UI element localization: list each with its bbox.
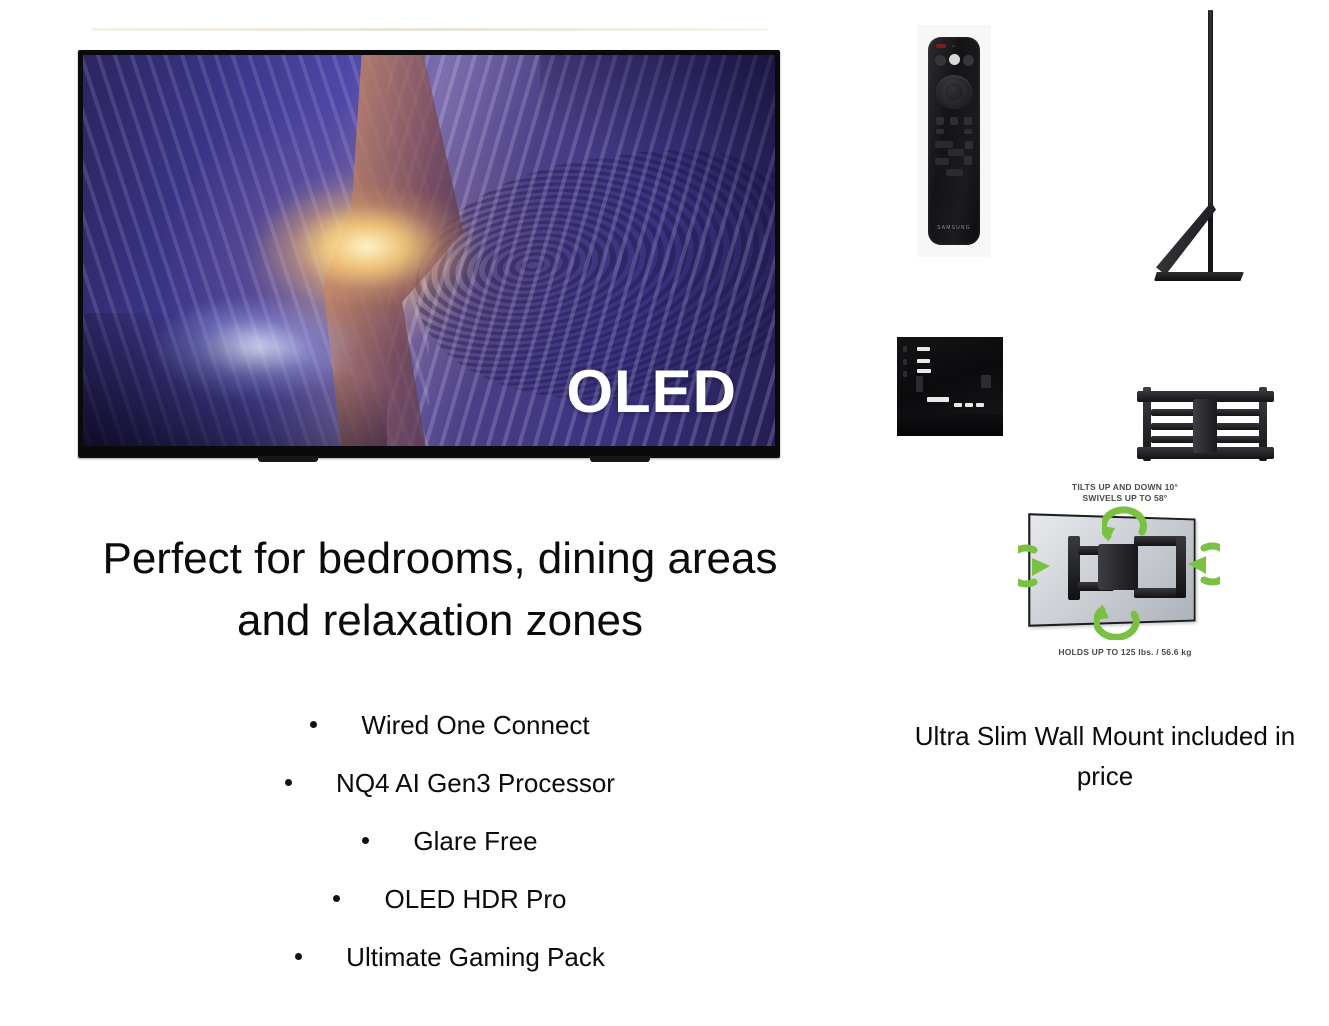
- app-shortcut-icon: [935, 158, 949, 165]
- tilt-caption-line: TILTS UP AND DOWN 10°: [1010, 482, 1240, 493]
- wall-mount-caption: Ultra Slim Wall Mount included in price: [885, 716, 1325, 797]
- channel-rocker-icon: [964, 129, 972, 134]
- remote-body: SAMSUNG: [928, 37, 980, 245]
- tv-foot-left: [258, 456, 318, 462]
- tv-stand-image: [1126, 10, 1296, 302]
- remote-control-image: SAMSUNG: [917, 25, 991, 257]
- voice-button-icon: [963, 55, 974, 66]
- headline-text: Perfect for bedrooms, dining areas and r…: [60, 528, 820, 653]
- oled-screen-logo: OLED: [566, 362, 737, 422]
- feature-label: Ultimate Gaming Pack: [346, 944, 605, 970]
- home-button-icon: [950, 117, 958, 125]
- power-button-icon: [936, 44, 946, 48]
- guide-button-icon: [964, 117, 972, 125]
- feature-label: NQ4 AI Gen3 Processor: [336, 770, 615, 796]
- swivel-caption-line: SWIVELS UP TO 58°: [1010, 493, 1240, 504]
- back-button-icon: [936, 117, 944, 125]
- diagram-caption-top: TILTS UP AND DOWN 10° SWIVELS UP TO 58°: [1010, 482, 1240, 504]
- volume-rocker-icon: [936, 129, 944, 134]
- one-connect-image: [897, 337, 1003, 436]
- tv-product-image: OLED: [78, 28, 780, 458]
- bullet-dot-icon: [310, 721, 317, 728]
- feature-label: Wired One Connect: [361, 712, 589, 738]
- stand-base-plate: [1154, 272, 1244, 281]
- wall-mount-bracket-image: [1137, 381, 1274, 470]
- remote-brand-label: SAMSUNG: [928, 225, 980, 231]
- tv-screen: OLED: [83, 55, 775, 446]
- stand-leg: [1156, 202, 1216, 278]
- ir-led-icon: [952, 45, 955, 47]
- feature-label: Glare Free: [413, 828, 537, 854]
- assistant-button-icon: [949, 54, 960, 65]
- tv-foot-right: [590, 456, 650, 462]
- diagram-pivot-box: [1098, 544, 1138, 590]
- numeric-button-icon: [935, 141, 953, 148]
- list-item: Ultimate Gaming Pack: [150, 944, 750, 970]
- swivel-arrow-left-icon: [1018, 544, 1072, 588]
- bullet-dot-icon: [333, 895, 340, 902]
- bullet-dot-icon: [362, 837, 369, 844]
- tilt-arrow-top-icon: [1102, 506, 1148, 546]
- diagram-caption-bottom: HOLDS UP TO 125 lbs. / 56.6 kg: [1010, 647, 1240, 658]
- app-shortcut-icon: [946, 169, 963, 176]
- channel-down-icon: [965, 141, 973, 149]
- dpad-ring-icon: [936, 75, 972, 109]
- play-button-icon: [948, 149, 964, 156]
- feature-list: Wired One Connect NQ4 AI Gen3 Processor …: [150, 712, 750, 1002]
- mount-motion-diagram: TILTS UP AND DOWN 10° SWIVELS UP TO 58°: [1010, 482, 1240, 660]
- mic-button-icon: [935, 55, 946, 66]
- right-column: SAMSUNG: [880, 0, 1329, 1026]
- bullet-dot-icon: [285, 779, 292, 786]
- swivel-arrow-right-icon: [1166, 542, 1220, 586]
- bracket-pivot-hub: [1193, 399, 1217, 453]
- feature-label: OLED HDR Pro: [384, 886, 566, 912]
- tilt-arrow-bottom-icon: [1094, 598, 1140, 640]
- tv-image-top-edge: [92, 28, 768, 31]
- list-item: NQ4 AI Gen3 Processor: [150, 770, 750, 796]
- tv-chassis: OLED: [78, 50, 780, 458]
- bullet-dot-icon: [295, 953, 302, 960]
- slide-canvas: OLED Perfect for bedrooms, dining areas …: [0, 0, 1329, 1026]
- left-column: OLED Perfect for bedrooms, dining areas …: [0, 0, 880, 1026]
- list-item: Wired One Connect: [150, 712, 750, 738]
- list-item: Glare Free: [150, 828, 750, 854]
- list-item: OLED HDR Pro: [150, 886, 750, 912]
- settings-button-icon: [964, 156, 972, 165]
